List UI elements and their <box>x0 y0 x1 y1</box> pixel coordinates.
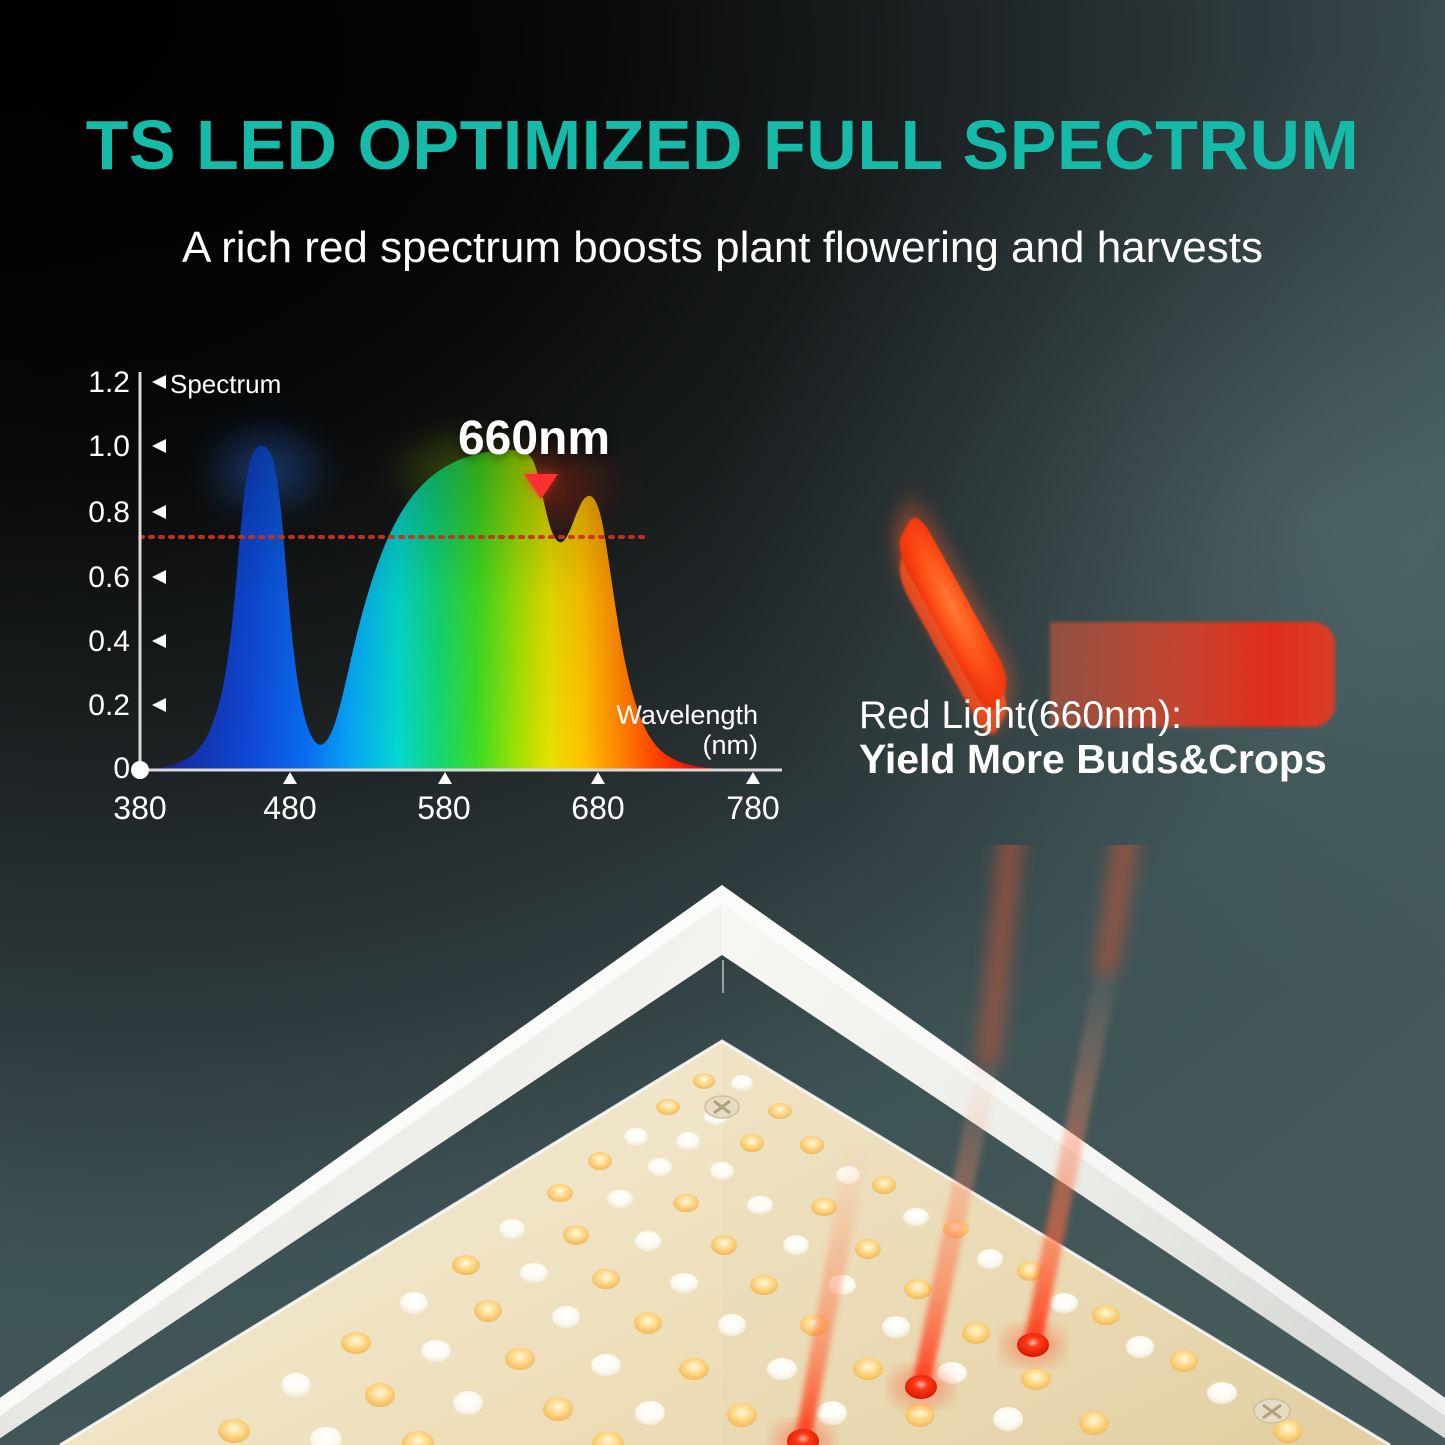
screw-icon <box>705 1096 739 1118</box>
x-tick-label: 780 <box>693 792 813 824</box>
x-axis-title-text: Wavelength <box>558 700 758 730</box>
y-tick-label: 1.2 <box>68 368 130 398</box>
y-tick-label: 0.4 <box>68 627 130 657</box>
peak-annotation-triangle-icon <box>524 474 558 499</box>
page-subtitle: A rich red spectrum boosts plant floweri… <box>0 222 1445 275</box>
callout-text: Red Light(660nm): Yield More Buds&Crops <box>859 695 1359 781</box>
y-axis-title: Spectrum <box>170 371 281 397</box>
peak-annotation-label: 660nm <box>364 415 704 463</box>
y-tick-label: 0.8 <box>68 498 130 528</box>
x-tick-label: 580 <box>384 792 504 824</box>
led-chip-top <box>895 509 1012 720</box>
screw-icon <box>1254 1399 1290 1423</box>
origin-dot <box>131 761 149 779</box>
promo-page: TS LED OPTIMIZED FULL SPECTRUM A rich re… <box>0 0 1445 1445</box>
spectrum-chart: 1.2 1.0 0.8 0.6 0.4 0.2 0 380 480 580 68… <box>78 360 798 830</box>
y-axis-ticks <box>152 375 166 712</box>
x-tick-label: 680 <box>538 792 658 824</box>
led-grow-light-panel <box>0 845 1445 1445</box>
callout-line-1: Red Light(660nm): <box>859 695 1359 737</box>
y-tick-label: 1.0 <box>68 432 130 462</box>
red-light-callout: Red Light(660nm): Yield More Buds&Crops <box>845 550 1365 790</box>
page-title: TS LED OPTIMIZED FULL SPECTRUM <box>0 110 1445 180</box>
y-tick-label: 0 <box>68 754 130 784</box>
x-axis-title: Wavelength (nm) <box>558 700 758 760</box>
y-tick-label: 0.2 <box>68 691 130 721</box>
x-axis-ticks <box>283 772 760 784</box>
x-tick-label: 380 <box>80 792 200 824</box>
led-chip-icon <box>853 566 1053 676</box>
x-axis-title-unit: (nm) <box>558 730 758 760</box>
callout-line-2: Yield More Buds&Crops <box>859 737 1359 781</box>
red-beam-upper-group <box>976 845 1150 1065</box>
x-tick-label: 480 <box>230 792 350 824</box>
y-tick-label: 0.6 <box>68 563 130 593</box>
